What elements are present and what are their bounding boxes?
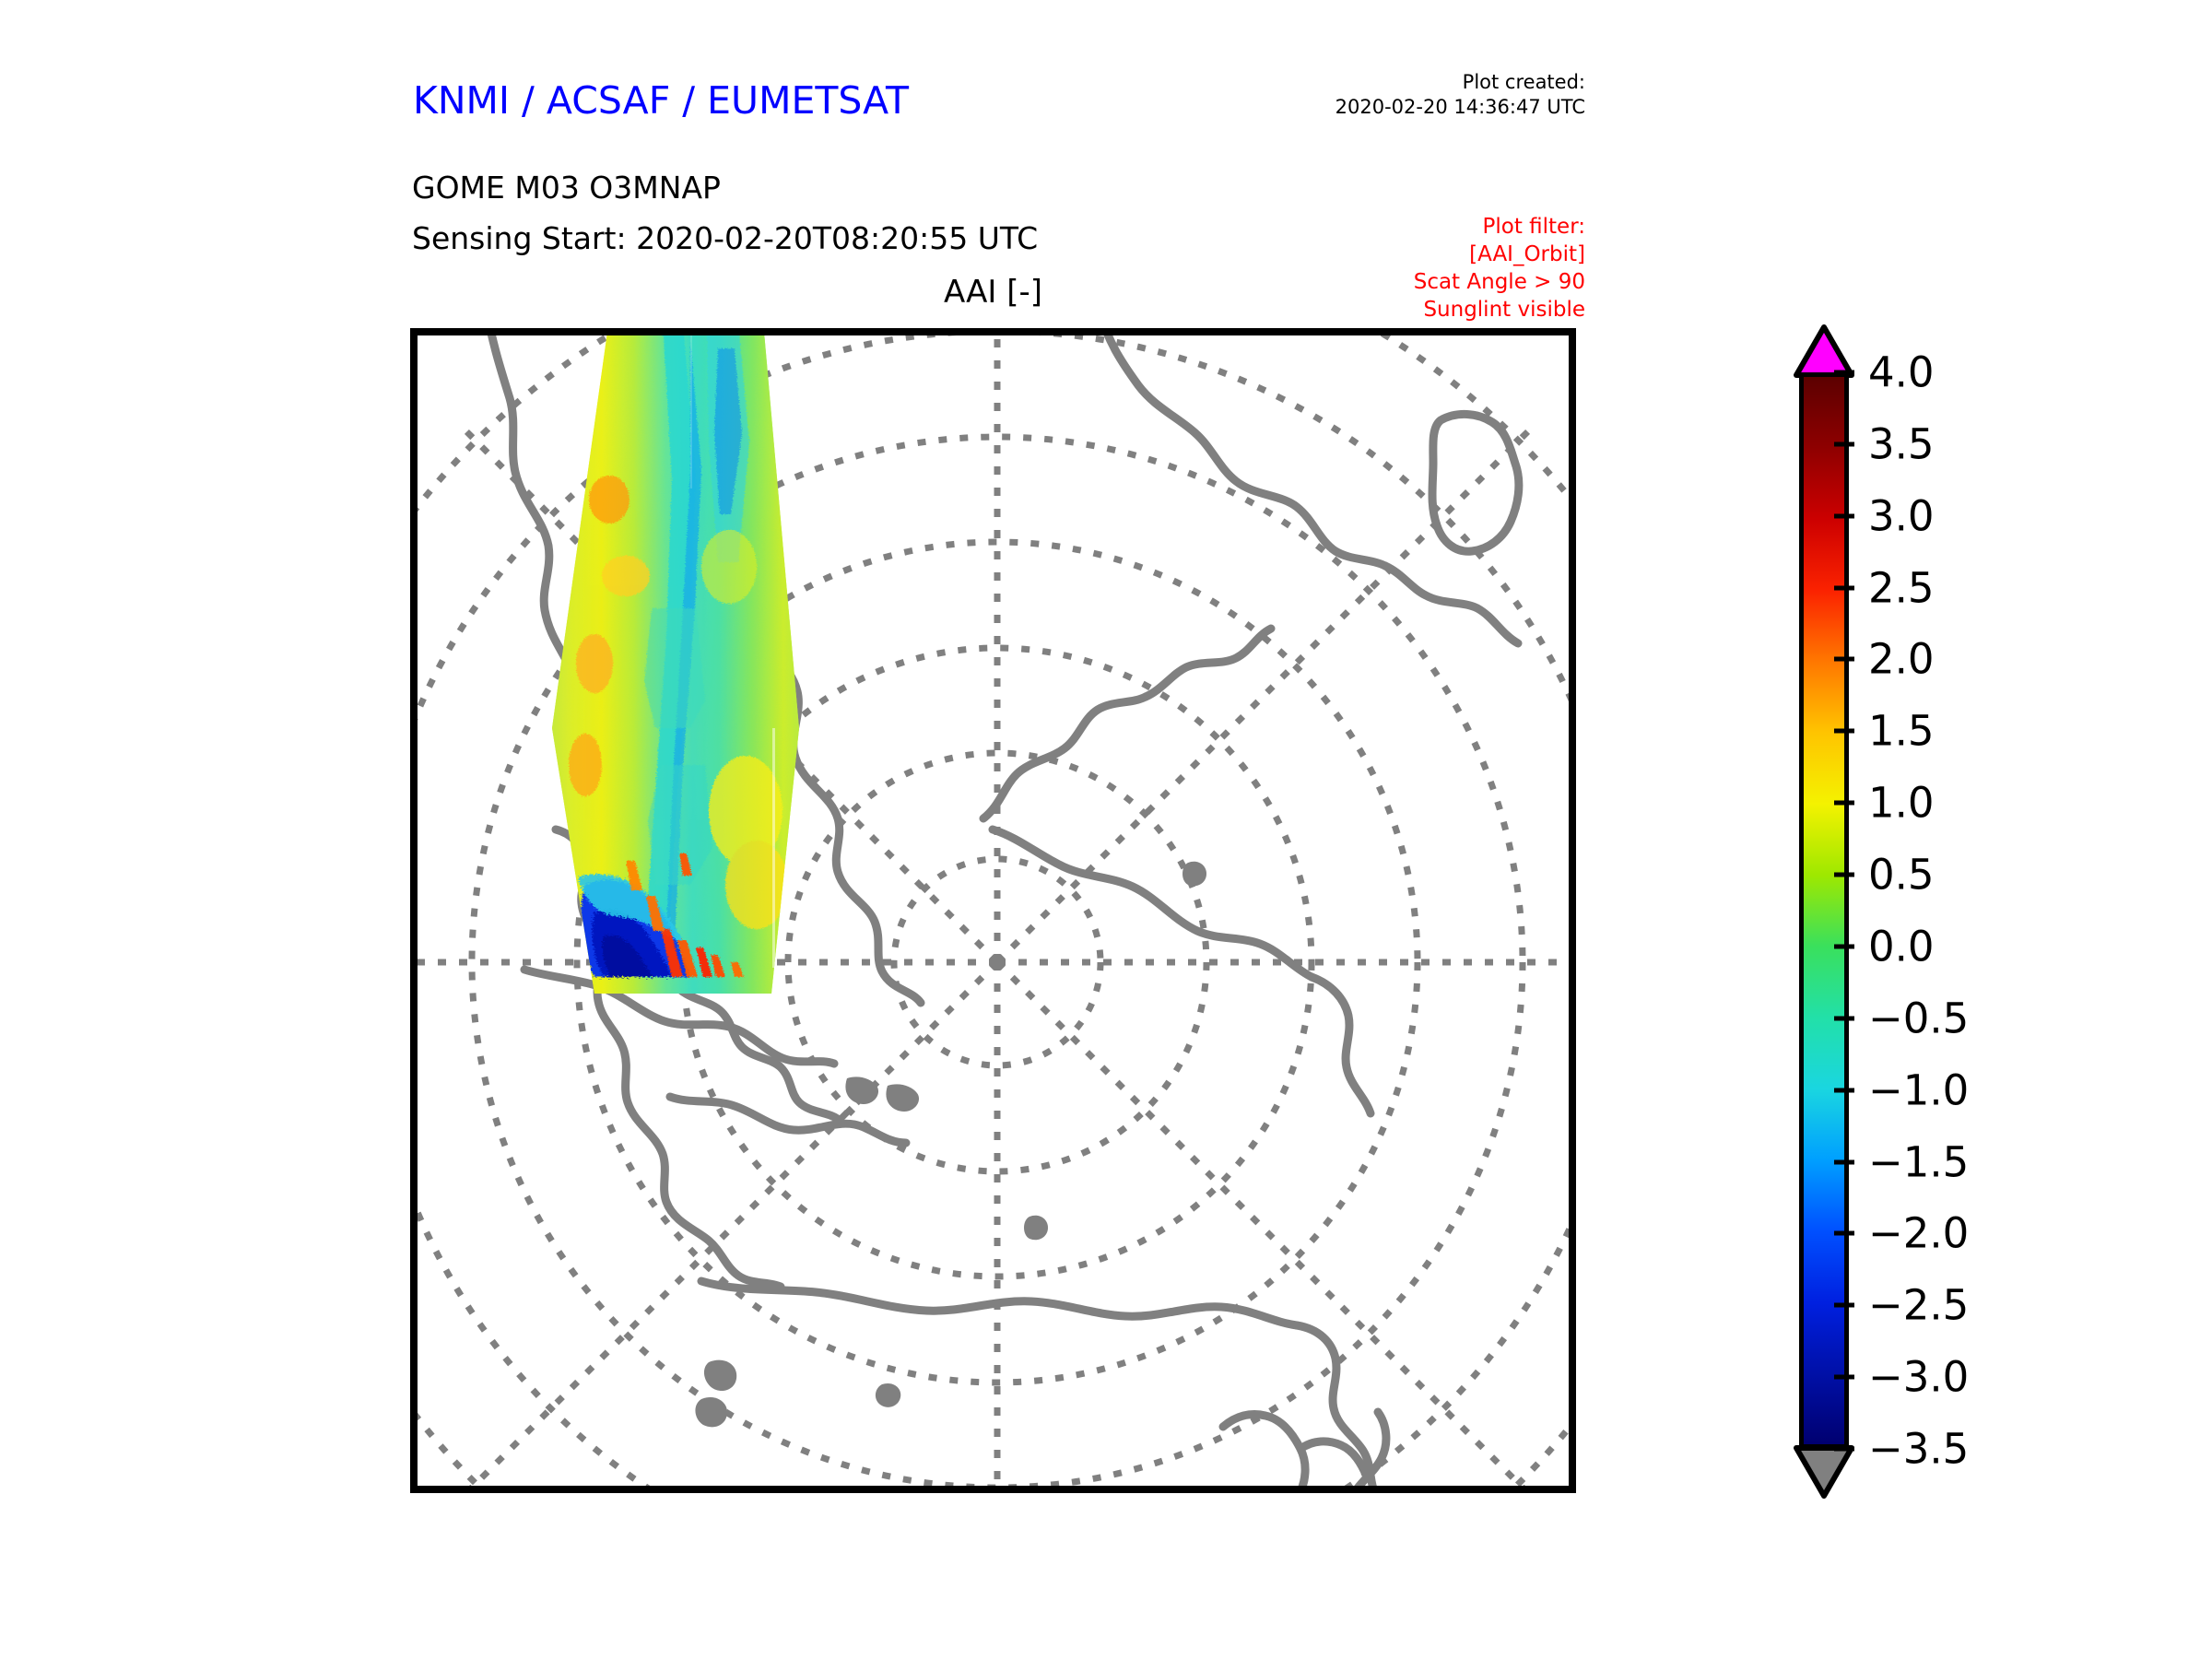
colorbar-tickmark xyxy=(1834,513,1854,518)
colorbar-tickmark xyxy=(1834,441,1854,446)
colorbar-tickmark xyxy=(1834,371,1854,375)
plot-created-value: 2020-02-20 14:36:47 UTC xyxy=(1318,95,1585,120)
island-falkland-2 xyxy=(886,1084,919,1112)
colorbar-tick-label: 1.5 xyxy=(1868,711,1935,752)
colorbar: 4.03.53.02.52.01.51.00.50.0−0.5−1.0−1.5−… xyxy=(1793,324,2180,1504)
coastline-madagascar xyxy=(1432,414,1519,551)
map-canvas xyxy=(414,332,1572,1489)
island-nz-small-b xyxy=(695,1397,727,1427)
colorbar-tick-label: 1.0 xyxy=(1868,782,1935,824)
colorbar-tickmark xyxy=(1834,1447,1854,1452)
island-nz-small-a xyxy=(704,1360,736,1391)
colorbar-tick-label: 3.5 xyxy=(1868,423,1935,465)
sensing-start-text: Sensing Start: 2020-02-20T08:20:55 UTC xyxy=(412,220,1038,256)
map-plot-frame xyxy=(410,328,1576,1493)
plot-filter-line-1: Plot filter: xyxy=(1263,214,1585,241)
coastline-africa xyxy=(1100,332,1385,566)
colorbar-tick-label: −0.5 xyxy=(1868,997,1969,1039)
plot-created-label: Plot created: xyxy=(1318,70,1585,95)
island-atlantic-2 xyxy=(1024,1216,1048,1241)
coastline-antarctica-enderby xyxy=(1312,977,1371,1113)
colorbar-tick-label: −1.5 xyxy=(1868,1141,1969,1182)
coastline-antarctica-amery xyxy=(983,697,1146,818)
product-title: GOME M03 O3MNAP xyxy=(412,170,721,206)
colorbar-tickmark xyxy=(1834,657,1854,662)
aai-swath-group xyxy=(543,332,810,1005)
organisation-title: KNMI / ACSAF / EUMETSAT xyxy=(413,78,909,123)
colorbar-tickmark xyxy=(1834,1016,1854,1020)
plot-created-block: Plot created: 2020-02-20 14:36:47 UTC xyxy=(1318,70,1585,121)
coastline-antarctica-queenmaud-north xyxy=(1146,629,1271,697)
colorbar-tick-label: −1.0 xyxy=(1868,1069,1969,1111)
colorbar-tick-labels: 4.03.53.02.52.01.51.00.50.0−0.5−1.0−1.5−… xyxy=(1793,324,2180,1504)
colorbar-tickmark xyxy=(1834,1088,1854,1092)
colorbar-tickmark xyxy=(1834,873,1854,877)
colorbar-tickmark xyxy=(1834,585,1854,590)
colorbar-tick-label: −2.5 xyxy=(1868,1285,1969,1326)
colorbar-tick-label: 0.5 xyxy=(1868,854,1935,896)
plot-filter-line-2: [AAI_Orbit] xyxy=(1263,241,1585,269)
colorbar-tick-label: −3.5 xyxy=(1868,1429,1969,1470)
colorbar-tickmark xyxy=(1834,1303,1854,1308)
colorbar-tickmark xyxy=(1834,944,1854,948)
island-atlantic-3 xyxy=(1182,862,1206,887)
coastline-tierra-del-fuego xyxy=(670,1097,906,1143)
colorbar-tick-label: 0.0 xyxy=(1868,925,1935,967)
coastline-antarctica-dronning-maud xyxy=(993,829,1312,977)
colorbar-tickmark xyxy=(1834,1159,1854,1164)
longitude-line-45 xyxy=(997,425,1535,962)
colorbar-tickmark xyxy=(1834,729,1854,734)
colorbar-tickmark xyxy=(1834,1231,1854,1236)
island-falkland-1 xyxy=(845,1077,878,1104)
colorbar-tick-label: 3.0 xyxy=(1868,495,1935,536)
colorbar-tick-label: 2.5 xyxy=(1868,567,1935,608)
colorbar-tick-label: −3.0 xyxy=(1868,1357,1969,1398)
colorbar-tickmark xyxy=(1834,1375,1854,1380)
longitude-line-135 xyxy=(997,962,1535,1489)
colorbar-tickmark xyxy=(1834,801,1854,806)
colorbar-tick-label: −2.0 xyxy=(1868,1213,1969,1254)
island-atlantic-1 xyxy=(876,1383,900,1407)
coastline-newzealand-south xyxy=(1223,1415,1305,1490)
colorbar-tick-label: 2.0 xyxy=(1868,639,1935,680)
colorbar-tick-label: 4.0 xyxy=(1868,352,1935,394)
plot-axis-title: AAI [-] xyxy=(410,274,1576,311)
coastline-africa-east xyxy=(1385,566,1518,643)
